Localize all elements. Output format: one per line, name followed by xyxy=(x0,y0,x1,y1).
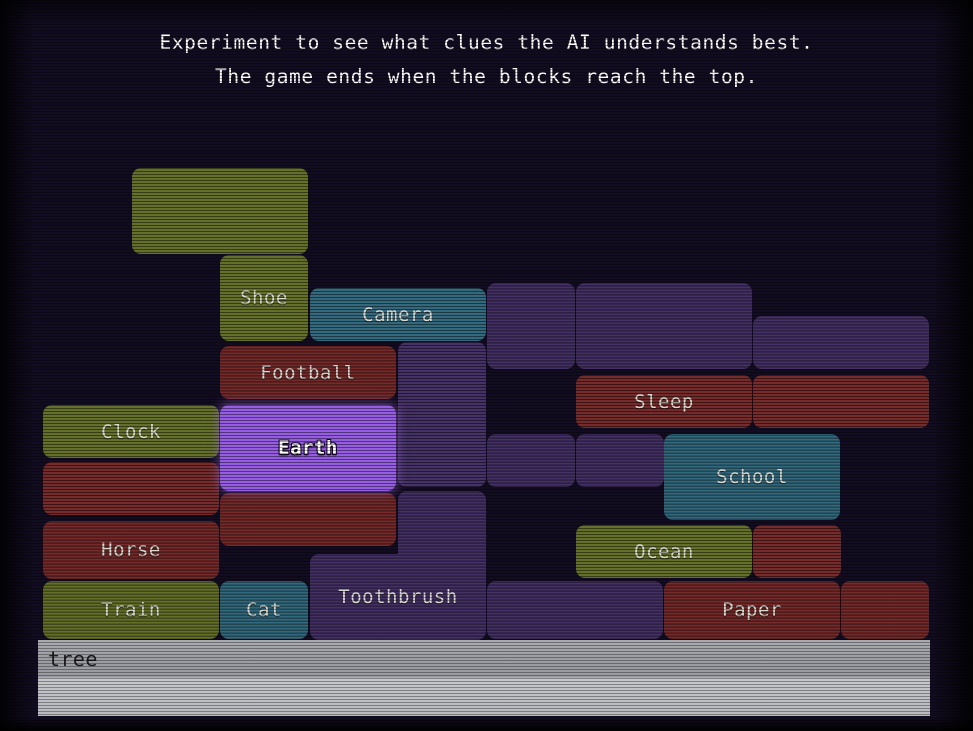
block-blank[interactable] xyxy=(398,342,486,487)
block-ocean[interactable]: Ocean xyxy=(576,525,752,578)
block-blank[interactable] xyxy=(220,493,396,546)
game-screen: Experiment to see what clues the AI unde… xyxy=(0,0,973,731)
clue-input-value: tree xyxy=(38,647,98,671)
block-label: Sleep xyxy=(634,391,694,413)
block-blank[interactable] xyxy=(487,581,663,639)
block-label: Ocean xyxy=(634,541,694,563)
block-label: Toothbrush xyxy=(338,586,457,608)
block-blank[interactable] xyxy=(132,168,308,254)
block-label: School xyxy=(716,466,788,488)
block-playfield: ShoeCameraFootballSleepClockEarthSchoolH… xyxy=(0,0,973,645)
block-label: Paper xyxy=(722,599,782,621)
instructions-header: Experiment to see what clues the AI unde… xyxy=(0,26,973,94)
clue-input[interactable]: tree xyxy=(38,640,930,678)
block-horse[interactable]: Horse xyxy=(43,521,219,579)
block-earth[interactable]: Earth xyxy=(220,405,396,491)
block-clock[interactable]: Clock xyxy=(43,405,219,458)
block-blank[interactable] xyxy=(576,434,664,487)
block-camera[interactable]: Camera xyxy=(310,288,486,341)
block-label: Football xyxy=(260,362,356,384)
block-shoe[interactable]: Shoe xyxy=(220,255,308,341)
block-blank[interactable] xyxy=(43,462,219,515)
block-label: Earth xyxy=(278,437,338,459)
block-label: Horse xyxy=(101,539,161,561)
block-label: Cat xyxy=(246,599,282,621)
block-label: Camera xyxy=(362,304,434,326)
block-sleep[interactable]: Sleep xyxy=(576,375,752,428)
block-toothbrush[interactable]: Toothbrush xyxy=(310,554,486,640)
block-train[interactable]: Train xyxy=(43,581,219,639)
block-blank[interactable] xyxy=(841,581,929,639)
block-label: Shoe xyxy=(240,287,288,309)
block-blank[interactable] xyxy=(753,375,929,428)
status-bar xyxy=(38,678,930,716)
block-football[interactable]: Football xyxy=(220,346,396,399)
block-label: Train xyxy=(101,599,161,621)
block-blank[interactable] xyxy=(753,316,929,369)
block-blank[interactable] xyxy=(487,283,575,369)
block-blank[interactable] xyxy=(576,283,752,369)
instruction-line-1: Experiment to see what clues the AI unde… xyxy=(0,26,973,60)
block-label: Clock xyxy=(101,421,161,443)
block-blank[interactable] xyxy=(487,434,575,487)
block-cat[interactable]: Cat xyxy=(220,581,308,639)
block-school[interactable]: School xyxy=(664,434,840,520)
instruction-line-2: The game ends when the blocks reach the … xyxy=(0,60,973,94)
block-blank[interactable] xyxy=(753,525,841,578)
block-paper[interactable]: Paper xyxy=(664,581,840,639)
